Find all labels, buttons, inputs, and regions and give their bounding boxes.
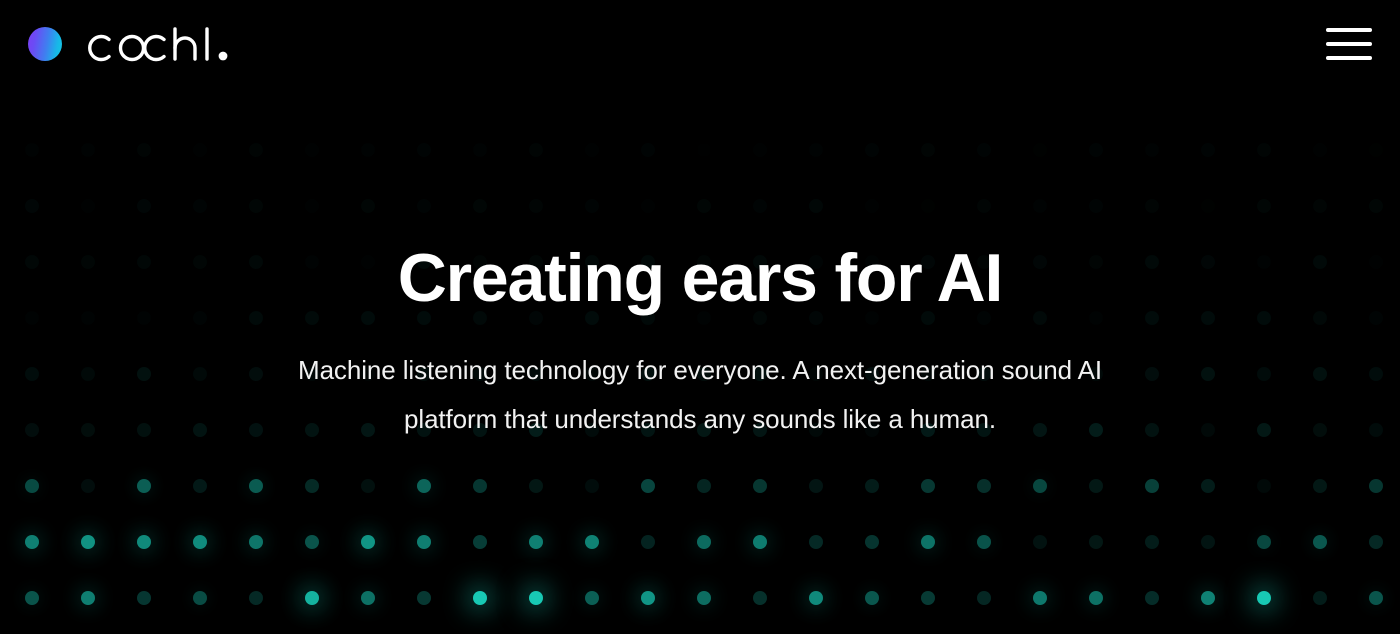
grid-dot	[529, 143, 543, 157]
grid-dot	[921, 591, 935, 605]
grid-dot	[977, 535, 991, 549]
grid-dot	[473, 535, 487, 549]
grid-dot	[81, 535, 95, 549]
grid-dot	[137, 479, 151, 493]
grid-dot	[417, 367, 431, 381]
grid-dot	[697, 255, 711, 269]
grid-dot	[1201, 143, 1215, 157]
grid-dot	[529, 255, 543, 269]
grid-dot	[1201, 591, 1215, 605]
grid-dot	[641, 143, 655, 157]
grid-dot	[1313, 423, 1327, 437]
grid-dot	[1145, 199, 1159, 213]
grid-dot	[249, 255, 263, 269]
grid-dot	[641, 423, 655, 437]
grid-dot	[921, 367, 935, 381]
grid-dot	[1369, 591, 1383, 605]
grid-dot	[361, 367, 375, 381]
grid-dot	[305, 143, 319, 157]
grid-dot	[1313, 255, 1327, 269]
grid-dot	[865, 423, 879, 437]
grid-dot	[137, 423, 151, 437]
grid-dot	[1369, 535, 1383, 549]
grid-dot	[473, 479, 487, 493]
grid-dot	[1313, 311, 1327, 325]
grid-dot	[921, 535, 935, 549]
grid-dot	[1145, 535, 1159, 549]
grid-dot	[249, 591, 263, 605]
grid-dot	[81, 255, 95, 269]
grid-dot	[473, 423, 487, 437]
grid-dot	[1089, 311, 1103, 325]
grid-dot	[753, 591, 767, 605]
grid-dot	[865, 479, 879, 493]
grid-dot	[865, 535, 879, 549]
grid-dot	[1313, 143, 1327, 157]
grid-dot	[977, 591, 991, 605]
grid-dot	[529, 199, 543, 213]
grid-dot	[1313, 367, 1327, 381]
grid-dot	[697, 423, 711, 437]
grid-dot	[1089, 199, 1103, 213]
menu-bar-bottom	[1326, 56, 1372, 60]
grid-dot	[1369, 143, 1383, 157]
grid-dot	[249, 423, 263, 437]
grid-dot	[1089, 535, 1103, 549]
grid-dot	[921, 311, 935, 325]
grid-dot	[417, 591, 431, 605]
grid-dot	[1257, 311, 1271, 325]
grid-dot	[417, 311, 431, 325]
grid-dot	[193, 479, 207, 493]
grid-dot	[1145, 311, 1159, 325]
grid-dot	[585, 311, 599, 325]
grid-dot	[305, 423, 319, 437]
grid-dot	[753, 255, 767, 269]
grid-dot	[1145, 143, 1159, 157]
grid-dot	[1313, 591, 1327, 605]
grid-dot	[137, 591, 151, 605]
grid-dot	[1369, 255, 1383, 269]
grid-dot	[25, 535, 39, 549]
grid-dot	[1313, 199, 1327, 213]
grid-dot	[473, 367, 487, 381]
grid-dot	[753, 143, 767, 157]
grid-dot	[473, 591, 487, 605]
grid-dot	[1313, 479, 1327, 493]
grid-dot	[753, 479, 767, 493]
grid-dot	[1033, 535, 1047, 549]
grid-dot	[361, 479, 375, 493]
grid-dot	[809, 311, 823, 325]
grid-dot	[1369, 423, 1383, 437]
grid-dot	[249, 143, 263, 157]
grid-dot	[809, 535, 823, 549]
grid-dot	[1089, 255, 1103, 269]
grid-dot	[305, 311, 319, 325]
grid-dot	[1201, 479, 1215, 493]
grid-dot	[977, 311, 991, 325]
grid-dot	[361, 199, 375, 213]
grid-dot	[305, 591, 319, 605]
grid-dot	[921, 199, 935, 213]
hamburger-menu-icon[interactable]	[1326, 24, 1372, 64]
grid-dot	[697, 199, 711, 213]
grid-dot	[865, 255, 879, 269]
grid-dot	[977, 255, 991, 269]
dot-grid-background	[0, 0, 1400, 634]
grid-dot	[809, 479, 823, 493]
grid-dot	[585, 199, 599, 213]
grid-dot	[25, 479, 39, 493]
grid-dot	[1369, 199, 1383, 213]
grid-dot	[1257, 255, 1271, 269]
grid-dot	[697, 591, 711, 605]
grid-dot	[1089, 367, 1103, 381]
grid-dot	[25, 311, 39, 325]
grid-dot	[529, 479, 543, 493]
grid-dot	[417, 255, 431, 269]
grid-dot	[921, 255, 935, 269]
grid-dot	[753, 311, 767, 325]
grid-dot	[1089, 591, 1103, 605]
menu-bar-top	[1326, 28, 1372, 32]
grid-dot	[921, 479, 935, 493]
grid-dot	[865, 367, 879, 381]
grid-dot	[81, 479, 95, 493]
grid-dot	[81, 199, 95, 213]
grid-dot	[529, 535, 543, 549]
grid-dot	[1201, 367, 1215, 381]
grid-dot	[1201, 199, 1215, 213]
hero-subtitle: Machine listening technology for everyon…	[250, 346, 1150, 445]
grid-dot	[417, 199, 431, 213]
grid-dot	[417, 423, 431, 437]
grid-dot	[977, 367, 991, 381]
grid-dot	[249, 311, 263, 325]
grid-dot	[305, 535, 319, 549]
grid-dot	[137, 199, 151, 213]
grid-dot	[809, 423, 823, 437]
grid-dot	[1033, 591, 1047, 605]
grid-dot	[1033, 143, 1047, 157]
grid-dot	[697, 479, 711, 493]
grid-dot	[529, 311, 543, 325]
grid-dot	[1257, 143, 1271, 157]
grid-dot	[865, 143, 879, 157]
grid-dot	[1089, 423, 1103, 437]
grid-dot	[1033, 367, 1047, 381]
grid-dot	[361, 255, 375, 269]
hero-section: Creating ears for AI Machine listening t…	[0, 0, 1400, 634]
grid-dot	[1369, 367, 1383, 381]
grid-dot	[977, 423, 991, 437]
hero-page: cochl. Creating ears for AI Machine list…	[0, 0, 1400, 634]
grid-dot	[193, 423, 207, 437]
grid-dot	[1033, 311, 1047, 325]
grid-dot	[641, 199, 655, 213]
grid-dot	[809, 367, 823, 381]
grid-dot	[697, 367, 711, 381]
grid-dot	[137, 367, 151, 381]
grid-dot	[809, 591, 823, 605]
grid-dot	[865, 199, 879, 213]
grid-dot	[137, 255, 151, 269]
grid-dot	[529, 591, 543, 605]
grid-dot	[1145, 255, 1159, 269]
grid-dot	[305, 479, 319, 493]
grid-dot	[249, 535, 263, 549]
grid-dot	[361, 143, 375, 157]
grid-dot	[865, 311, 879, 325]
grid-dot	[977, 479, 991, 493]
grid-dot	[249, 367, 263, 381]
grid-dot	[1145, 479, 1159, 493]
grid-dot	[585, 479, 599, 493]
grid-dot	[641, 367, 655, 381]
grid-dot	[193, 255, 207, 269]
grid-dot	[1089, 143, 1103, 157]
grid-dot	[921, 143, 935, 157]
grid-dot	[529, 367, 543, 381]
grid-dot	[529, 423, 543, 437]
grid-dot	[1257, 535, 1271, 549]
grid-dot	[697, 143, 711, 157]
grid-dot	[585, 143, 599, 157]
grid-dot	[865, 591, 879, 605]
grid-dot	[1257, 479, 1271, 493]
grid-dot	[977, 143, 991, 157]
grid-dot	[1201, 535, 1215, 549]
grid-dot	[25, 199, 39, 213]
page-title: Creating ears for AI	[398, 244, 1003, 312]
grid-dot	[921, 423, 935, 437]
grid-dot	[361, 591, 375, 605]
grid-dot	[585, 423, 599, 437]
grid-dot	[193, 535, 207, 549]
grid-dot	[1257, 423, 1271, 437]
logo-wordmark: cochl.	[76, 21, 244, 67]
grid-dot	[1257, 367, 1271, 381]
grid-dot	[977, 199, 991, 213]
grid-dot	[249, 479, 263, 493]
grid-dot	[697, 535, 711, 549]
grid-dot	[473, 311, 487, 325]
grid-dot	[1145, 367, 1159, 381]
grid-dot	[193, 591, 207, 605]
grid-dot	[809, 255, 823, 269]
grid-dot	[641, 591, 655, 605]
grid-dot	[25, 143, 39, 157]
grid-dot	[641, 535, 655, 549]
grid-dot	[753, 199, 767, 213]
grid-dot	[137, 535, 151, 549]
grid-dot	[81, 367, 95, 381]
grid-dot	[193, 143, 207, 157]
gradient-circle-icon	[28, 27, 62, 61]
grid-dot	[25, 367, 39, 381]
cochl-logo[interactable]: cochl.	[28, 21, 244, 67]
grid-dot	[1033, 255, 1047, 269]
grid-dot	[809, 143, 823, 157]
grid-dot	[1201, 423, 1215, 437]
grid-dot	[1313, 535, 1327, 549]
grid-dot	[361, 311, 375, 325]
grid-dot	[585, 591, 599, 605]
grid-dot	[81, 143, 95, 157]
grid-dot	[1145, 423, 1159, 437]
grid-dot	[473, 199, 487, 213]
grid-dot	[25, 255, 39, 269]
grid-dot	[1033, 423, 1047, 437]
grid-dot	[1201, 255, 1215, 269]
grid-dot	[193, 199, 207, 213]
grid-dot	[753, 367, 767, 381]
grid-dot	[473, 143, 487, 157]
grid-dot	[249, 199, 263, 213]
grid-dot	[473, 255, 487, 269]
grid-dot	[641, 479, 655, 493]
grid-dot	[753, 423, 767, 437]
grid-dot	[305, 367, 319, 381]
grid-dot	[809, 199, 823, 213]
grid-dot	[697, 311, 711, 325]
grid-dot	[25, 591, 39, 605]
grid-dot	[305, 199, 319, 213]
grid-dot	[81, 591, 95, 605]
site-header: cochl.	[0, 0, 1400, 88]
grid-dot	[1257, 591, 1271, 605]
grid-dot	[417, 143, 431, 157]
grid-dot	[1201, 311, 1215, 325]
menu-bar-middle	[1326, 42, 1372, 46]
grid-dot	[25, 423, 39, 437]
grid-dot	[585, 535, 599, 549]
grid-dot	[1033, 199, 1047, 213]
grid-dot	[641, 255, 655, 269]
grid-dot	[753, 535, 767, 549]
grid-dot	[361, 535, 375, 549]
grid-dot	[1089, 479, 1103, 493]
grid-dot	[81, 423, 95, 437]
grid-dot	[1145, 591, 1159, 605]
grid-dot	[585, 367, 599, 381]
grid-dot	[361, 423, 375, 437]
grid-dot	[137, 143, 151, 157]
grid-dot	[417, 535, 431, 549]
grid-dot	[1369, 479, 1383, 493]
grid-dot	[417, 479, 431, 493]
grid-dot	[641, 311, 655, 325]
grid-dot	[81, 311, 95, 325]
grid-dot	[193, 367, 207, 381]
grid-dot	[1369, 311, 1383, 325]
grid-dot	[305, 255, 319, 269]
grid-dot	[193, 311, 207, 325]
grid-dot	[585, 255, 599, 269]
grid-dot	[1257, 199, 1271, 213]
grid-dot	[1033, 479, 1047, 493]
grid-dot	[137, 311, 151, 325]
